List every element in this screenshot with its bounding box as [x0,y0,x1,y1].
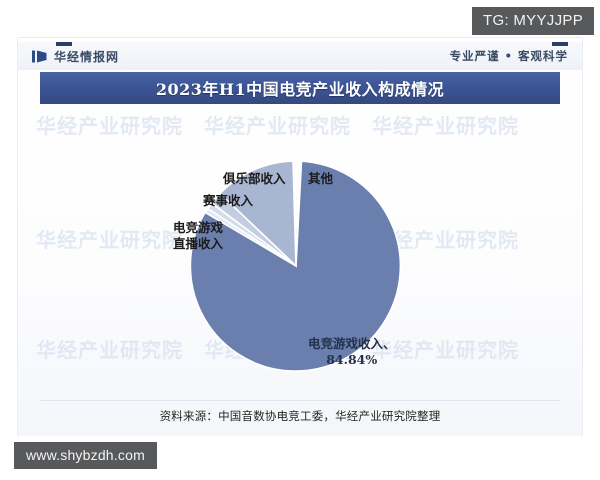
page-title: 2023年H1中国电竞产业收入构成情况 [156,76,444,100]
brand-row: 华经情报网 专业严谨 • 客观科学 [18,42,582,70]
corner-tick-right [552,42,568,46]
pie-label-club-revenue: 俱乐部收入 [223,171,286,186]
tg-watermark-badge: TG: MYYJJPP [472,7,594,35]
pie-label-event-revenue: 赛事收入 [203,193,253,208]
pie-label-esports-game-revenue: 电竞游戏收入、 84.84% [308,336,396,368]
chart-area: 华经产业研究院 www.huaon.com [18,108,582,398]
pie-label-live-streaming-revenue: 电竞游戏 直播收入 [173,220,223,252]
corner-tick-left [56,42,72,46]
brand-name: 华经情报网 [54,48,119,65]
pie-label-live-line2: 直播收入 [173,236,223,252]
brand-slogan: 专业严谨 • 客观科学 [450,48,568,64]
report-card: 华经产业研究院 华经产业研究院 华经产业研究院 华经产业研究院 华经产业研究院 … [18,38,582,436]
chart-title-band: 2023年H1中国电竞产业收入构成情况 [40,72,560,104]
source-note: 资料来源：中国音数协电竞工委，华经产业研究院整理 [18,408,582,424]
pie-label-live-line1: 电竞游戏 [173,220,223,236]
brand-left-group: 华经情报网 [32,48,119,65]
pie-label-main-value: 84.84% [308,352,396,368]
book-logo-icon [32,50,47,63]
pie-label-main-name: 电竞游戏收入、 [308,336,396,352]
screenshot-root: TG: MYYJJPP 华经产业研究院 华经产业研究院 华经产业研究院 华经产业… [0,0,600,480]
pie-label-other-revenue: 其他 [308,171,333,186]
source-divider [40,400,560,401]
url-watermark-badge: www.shybzdh.com [14,442,157,469]
